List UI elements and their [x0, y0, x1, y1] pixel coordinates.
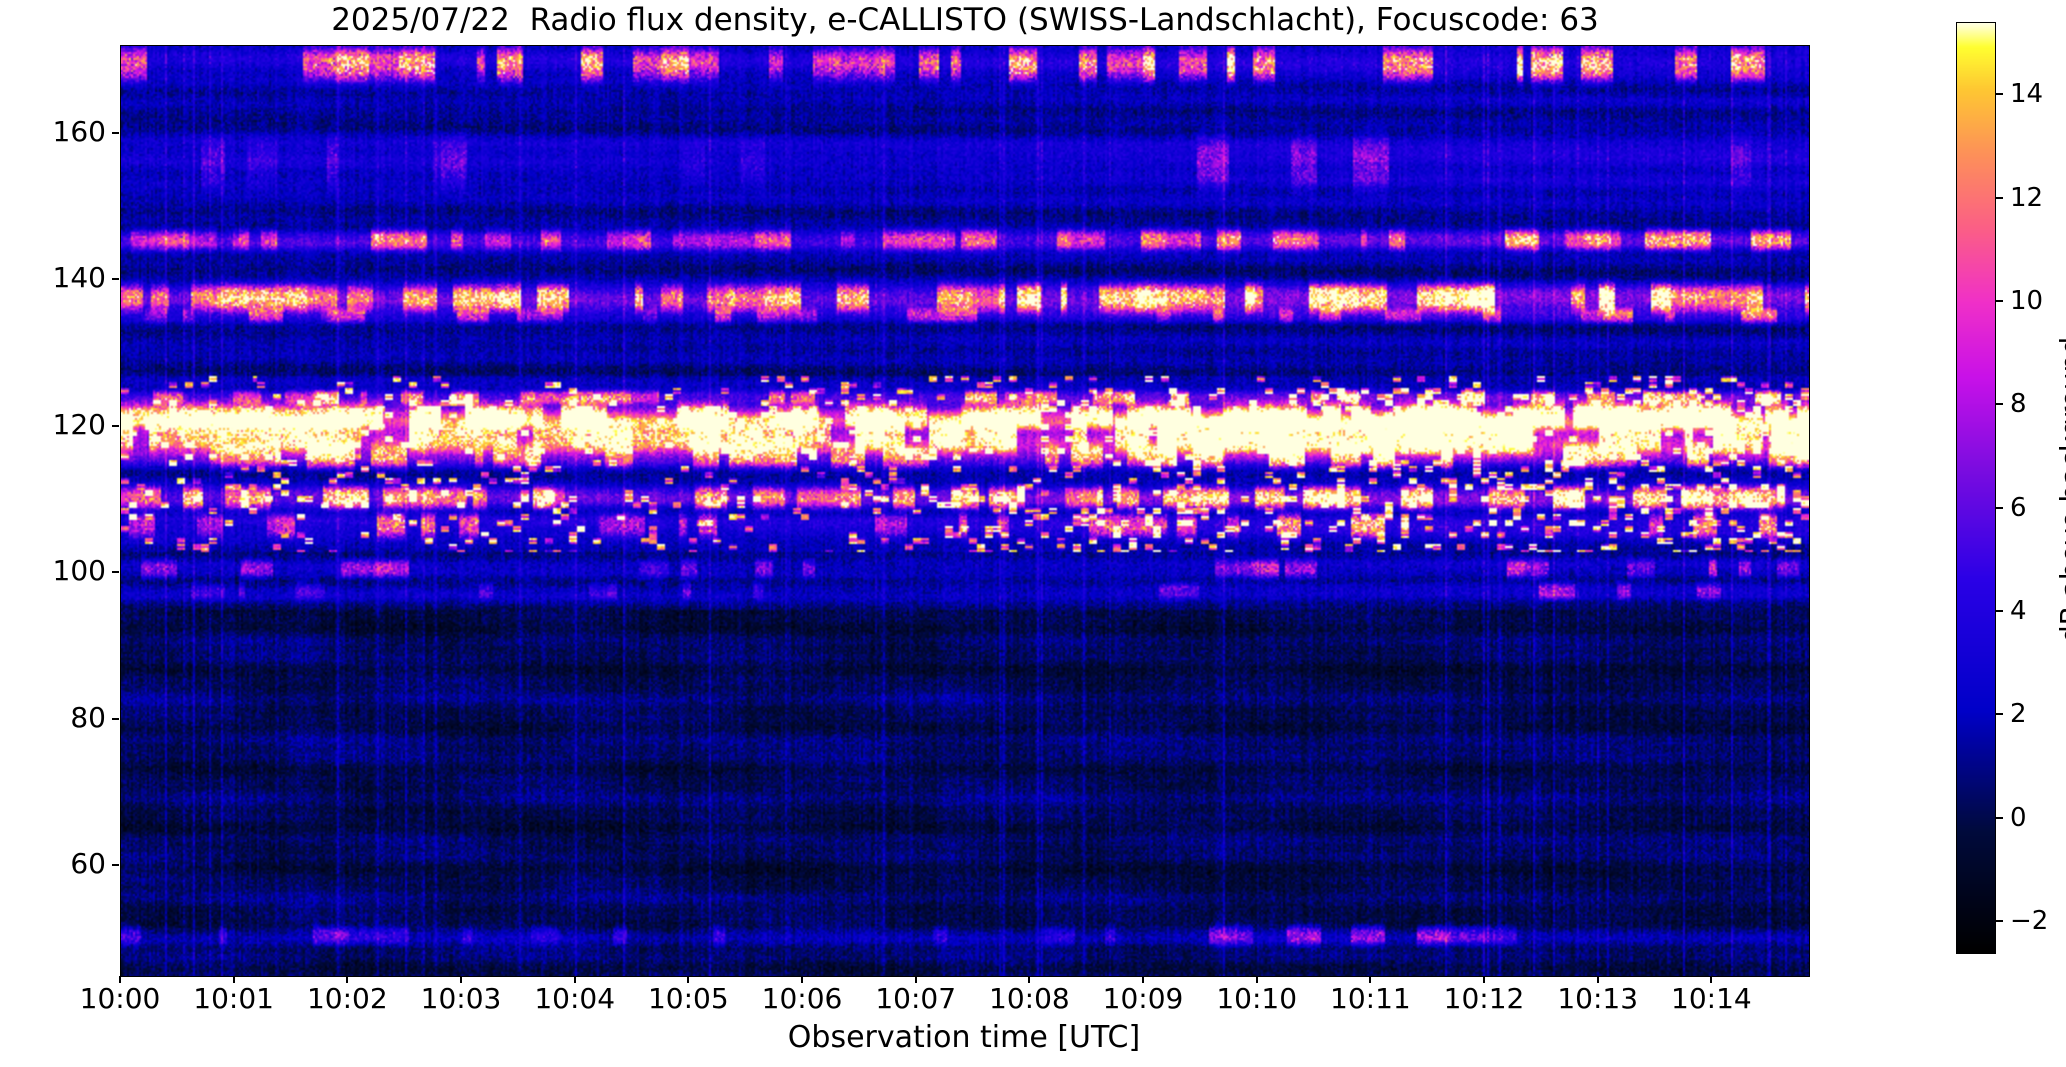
x-tick-label: 10:12	[1444, 982, 1525, 1015]
colorbar-tick-mark	[1996, 610, 2003, 612]
x-tick-mark	[460, 976, 462, 983]
x-tick-mark	[119, 976, 121, 983]
x-tick-mark	[801, 976, 803, 983]
x-tick-mark	[574, 976, 576, 983]
colorbar-tick-label: 8	[2010, 389, 2027, 419]
x-tick-mark	[1597, 976, 1599, 983]
x-tick-mark	[1483, 976, 1485, 983]
colorbar-tick-label: 0	[2010, 803, 2027, 833]
colorbar-tick-mark	[1996, 93, 2003, 95]
spectrogram-axes	[120, 45, 1810, 977]
x-tick-label: 10:02	[307, 982, 388, 1015]
y-tick-mark	[112, 278, 119, 280]
x-tick-label: 10:01	[193, 982, 274, 1015]
y-tick-mark	[112, 132, 119, 134]
x-tick-mark	[233, 976, 235, 983]
y-tick-label: 60	[0, 847, 106, 880]
x-tick-label: 10:03	[421, 982, 502, 1015]
colorbar-tick-label: 14	[2010, 79, 2043, 109]
x-tick-label: 10:00	[80, 982, 161, 1015]
x-tick-mark	[1142, 976, 1144, 983]
colorbar-label: dB above background	[2054, 337, 2066, 643]
y-tick-mark	[112, 718, 119, 720]
x-tick-label: 10:09	[1103, 982, 1184, 1015]
x-tick-mark	[1369, 976, 1371, 983]
x-axis-label: Observation time [UTC]	[120, 1020, 1808, 1055]
x-tick-label: 10:13	[1557, 982, 1638, 1015]
colorbar-tick-mark	[1996, 197, 2003, 199]
y-tick-label: 140	[0, 261, 106, 294]
x-tick-label: 10:04	[534, 982, 615, 1015]
x-tick-mark	[915, 976, 917, 983]
spectrogram-image	[121, 46, 1809, 976]
colorbar-tick-label: −2	[2010, 906, 2048, 936]
y-tick-label: 100	[0, 554, 106, 587]
chart-title: 2025/07/22 Radio flux density, e-CALLIST…	[120, 2, 1810, 38]
x-tick-mark	[1028, 976, 1030, 983]
colorbar-tick-label: 12	[2010, 183, 2043, 213]
colorbar-tick-label: 4	[2010, 596, 2027, 626]
colorbar-tick-mark	[1996, 403, 2003, 405]
colorbar-tick-mark	[1996, 920, 2003, 922]
x-tick-label: 10:10	[1216, 982, 1297, 1015]
y-tick-mark	[112, 571, 119, 573]
x-tick-label: 10:11	[1330, 982, 1411, 1015]
y-tick-mark	[112, 425, 119, 427]
colorbar	[1956, 22, 1996, 954]
x-tick-label: 10:06	[762, 982, 843, 1015]
colorbar-tick-mark	[1996, 713, 2003, 715]
x-tick-mark	[687, 976, 689, 983]
colorbar-gradient	[1957, 23, 1995, 953]
x-tick-label: 10:08	[989, 982, 1070, 1015]
colorbar-tick-mark	[1996, 507, 2003, 509]
x-tick-label: 10:05	[648, 982, 729, 1015]
x-tick-label: 10:14	[1671, 982, 1752, 1015]
y-tick-label: 160	[0, 115, 106, 148]
x-tick-mark	[346, 976, 348, 983]
colorbar-tick-label: 6	[2010, 493, 2027, 523]
y-tick-label: 120	[0, 408, 106, 441]
colorbar-tick-label: 2	[2010, 699, 2027, 729]
y-tick-label: 80	[0, 701, 106, 734]
x-tick-label: 10:07	[875, 982, 956, 1015]
figure-canvas: 2025/07/22 Radio flux density, e-CALLIST…	[0, 0, 2066, 1067]
x-tick-mark	[1256, 976, 1258, 983]
colorbar-tick-mark	[1996, 817, 2003, 819]
y-tick-mark	[112, 864, 119, 866]
colorbar-tick-mark	[1996, 300, 2003, 302]
x-tick-mark	[1710, 976, 1712, 983]
colorbar-tick-label: 10	[2010, 286, 2043, 316]
